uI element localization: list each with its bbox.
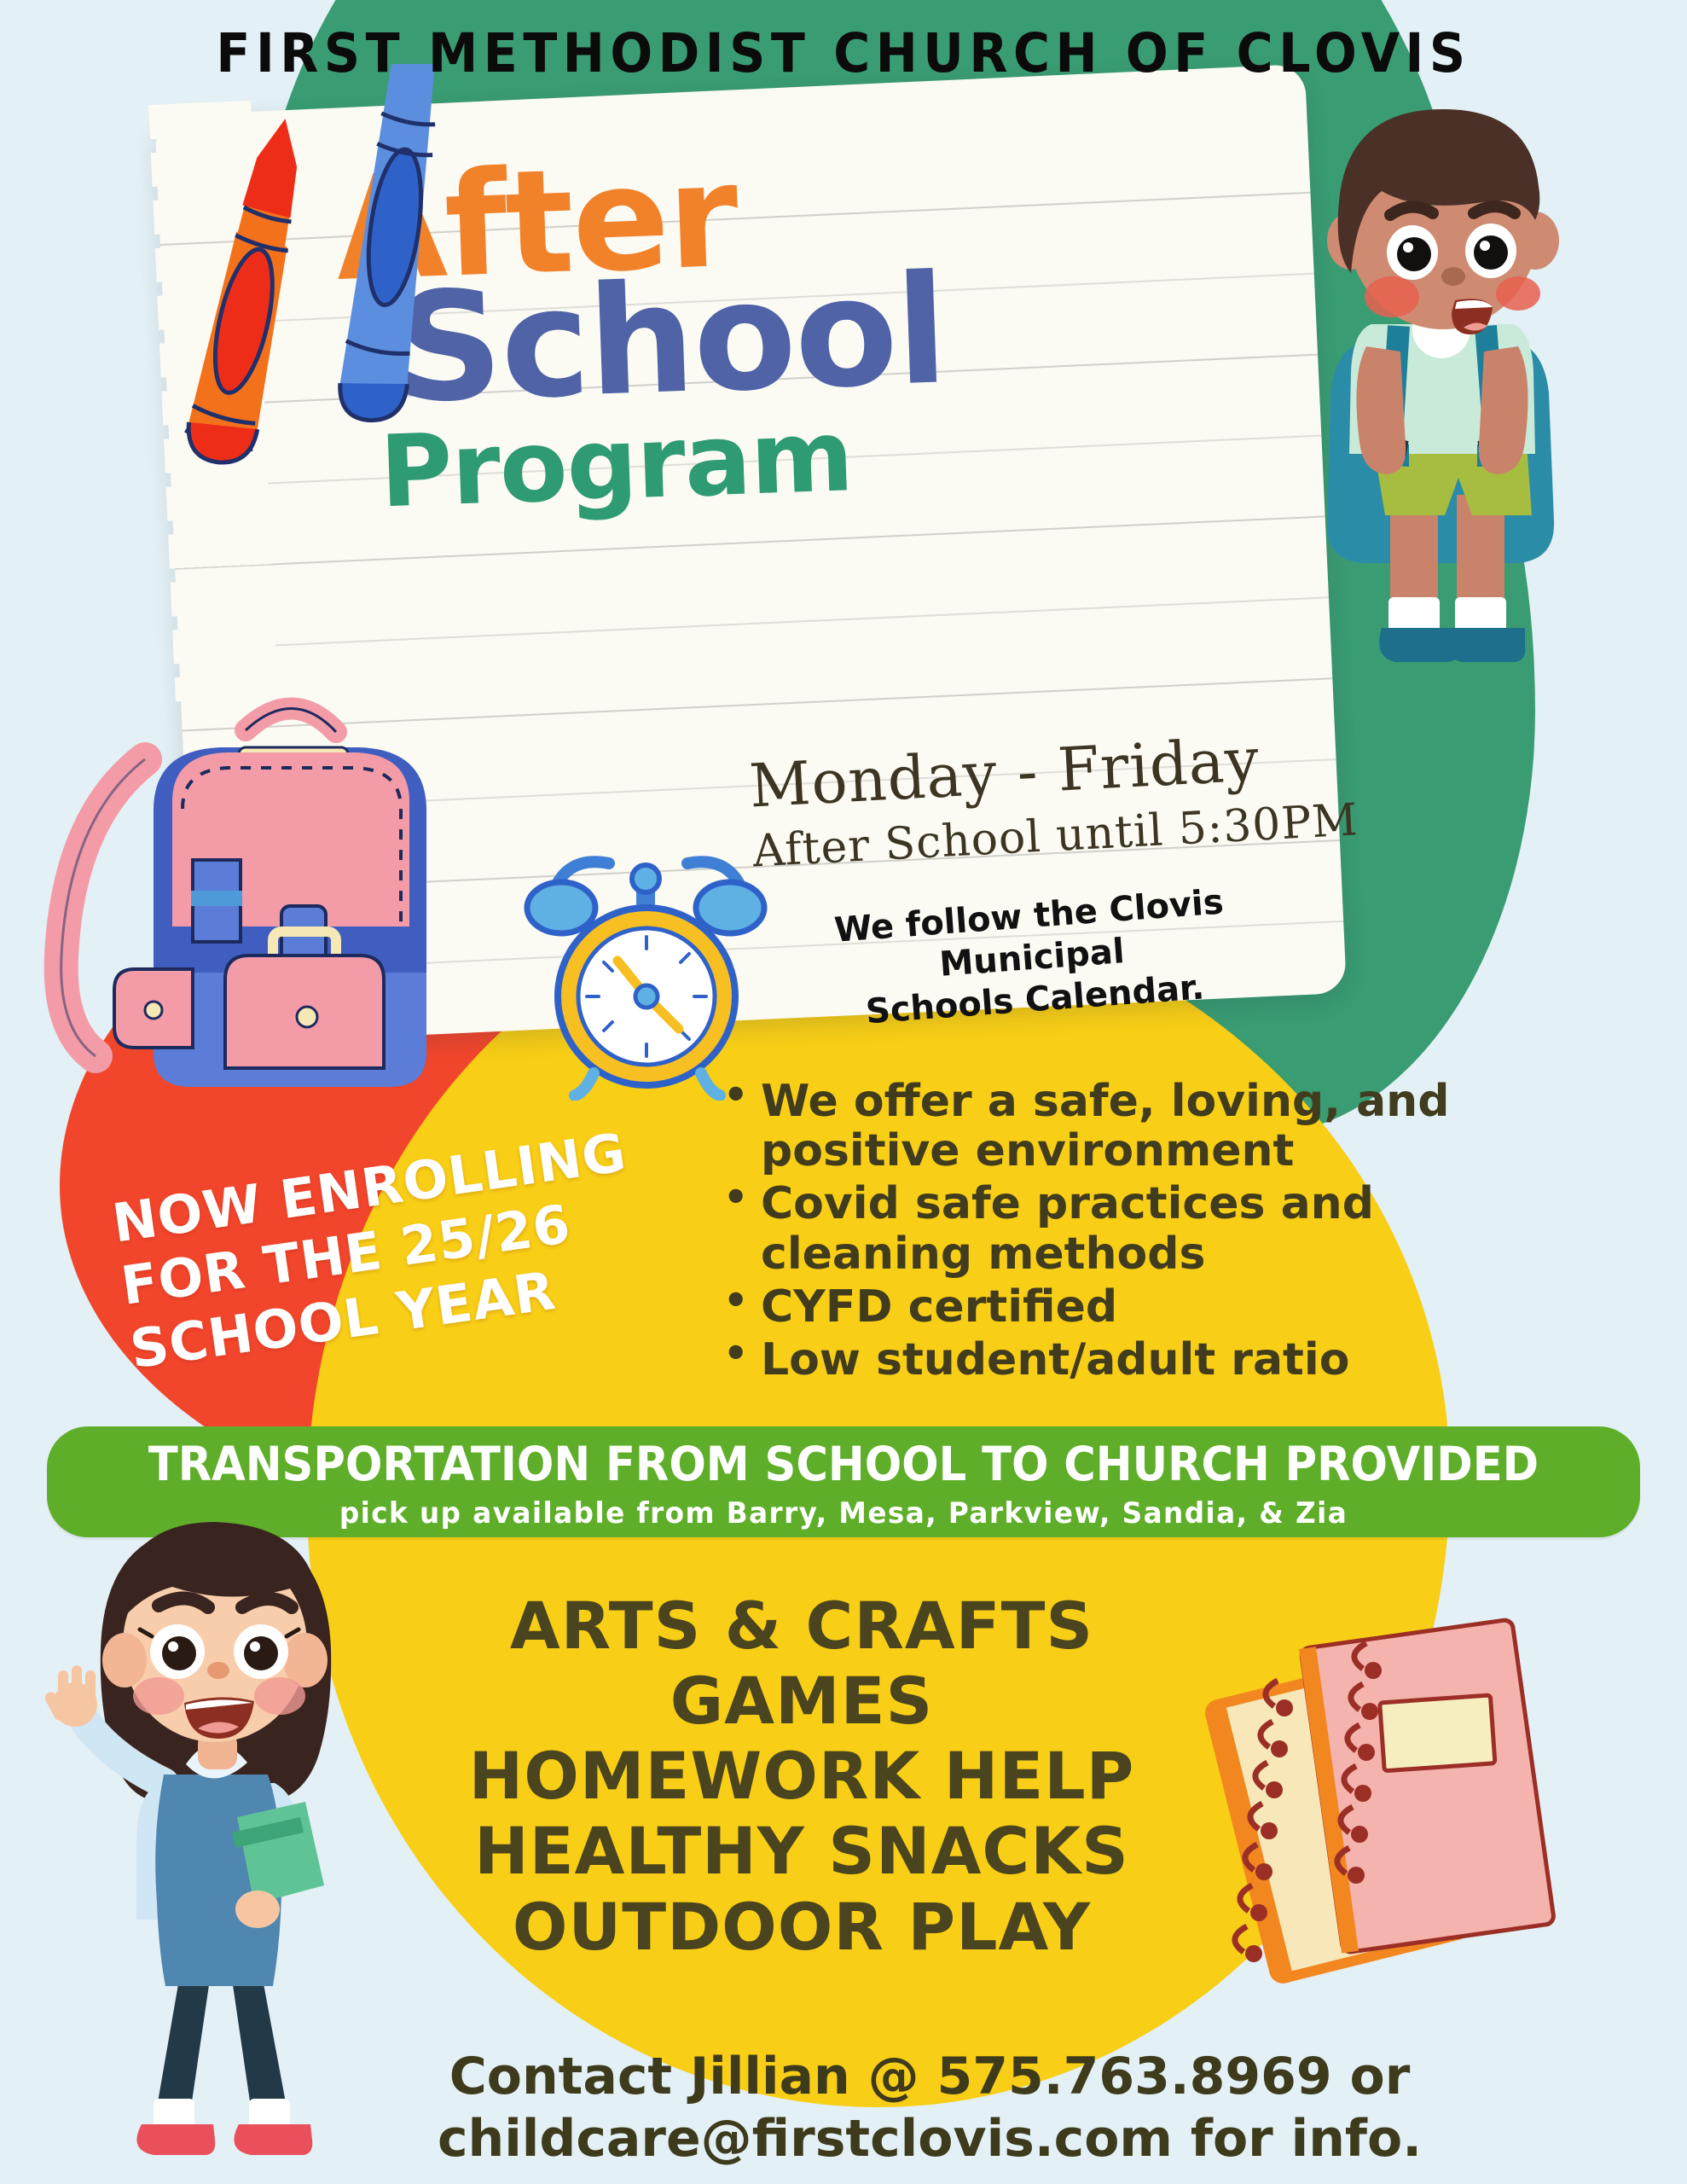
list-item: Low student/adult ratio xyxy=(716,1335,1467,1385)
activity-item: HOMEWORK HELP xyxy=(367,1739,1237,1814)
transportation-headline: TRANSPORTATION FROM SCHOOL TO CHURCH PRO… xyxy=(102,1437,1584,1491)
contact-block: Contact Jillian @ 575.763.8969 or childc… xyxy=(239,2046,1620,2170)
list-item: CYFD certified xyxy=(716,1282,1467,1332)
contact-line2: childcare@firstclovis.com for info. xyxy=(239,2108,1620,2170)
girl-student-illustration xyxy=(34,1501,401,2180)
activity-item: OUTDOOR PLAY xyxy=(367,1890,1237,1965)
contact-line1: Contact Jillian @ 575.763.8969 or xyxy=(239,2046,1620,2108)
flyer-canvas: FIRST METHODIST CHURCH OF CLOVIS xyxy=(0,0,1687,2184)
features-list: We offer a safe, loving, and positive en… xyxy=(716,1077,1467,1388)
backpack-illustration xyxy=(26,631,554,1147)
activity-item: HEALTHY SNACKS xyxy=(367,1814,1237,1889)
list-item: Covid safe practices and cleaning method… xyxy=(716,1179,1467,1278)
crayons-illustration xyxy=(111,64,478,546)
boy-student-illustration xyxy=(1262,85,1620,687)
activity-item: GAMES xyxy=(367,1664,1237,1739)
activity-item: ARTS & CRAFTS xyxy=(367,1589,1237,1664)
title-line-school: School xyxy=(392,253,1188,418)
page-title: FIRST METHODIST CHURCH OF CLOVIS xyxy=(59,22,1628,84)
activities-list: ARTS & CRAFTS GAMES HOMEWORK HELP HEALTH… xyxy=(367,1589,1237,1965)
list-item: We offer a safe, loving, and positive en… xyxy=(716,1077,1467,1176)
spiral-notebooks-illustration xyxy=(1194,1578,1638,2026)
